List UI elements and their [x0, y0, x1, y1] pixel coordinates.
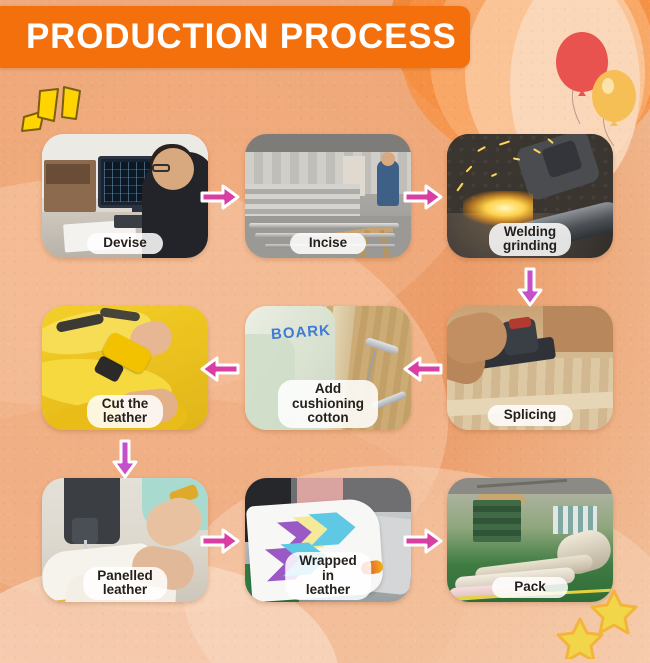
step-label: Incise — [290, 233, 366, 254]
step-label: Devise — [87, 233, 163, 254]
flow-arrow-right-icon — [199, 182, 241, 212]
process-step-card[interactable]: Incise — [245, 134, 411, 258]
page-title: PRODUCTION PROCESS — [26, 17, 457, 57]
process-step-card[interactable]: BOARK Add cushioning cotton — [245, 306, 411, 430]
process-step-card[interactable]: Splicing — [447, 306, 613, 430]
star-icon — [592, 591, 636, 633]
balloons-decoration — [540, 28, 650, 158]
flow-arrow-right-icon — [402, 182, 444, 212]
stars-decoration — [554, 579, 646, 659]
speed-lines-burst-icon — [14, 83, 90, 135]
flow-arrow-right-icon — [199, 526, 241, 556]
production-process-poster: PRODUCTION PROCESS Devis — [0, 0, 650, 663]
flow-arrow-left-icon — [199, 354, 241, 384]
process-step-card[interactable]: Panelled leather — [42, 478, 208, 602]
flow-arrow-right-icon — [402, 526, 444, 556]
flow-arrow-down-icon — [515, 266, 545, 308]
flow-arrow-down-icon — [110, 438, 140, 480]
step-label: Panelled leather — [83, 567, 167, 600]
process-step-card[interactable]: Wrapped in leather — [245, 478, 411, 602]
title-banner: PRODUCTION PROCESS — [0, 6, 470, 68]
step-label: Splicing — [488, 405, 573, 426]
step-label: Cut the leather — [87, 395, 163, 428]
star-icon — [558, 619, 602, 659]
step-label: Add cushioning cotton — [278, 380, 378, 428]
balloon-yellow-icon — [592, 70, 636, 122]
process-step-card[interactable]: Cut the leather — [42, 306, 208, 430]
step-label: Wrapped in leather — [285, 552, 371, 600]
flow-arrow-left-icon — [402, 354, 444, 384]
step-label: Welding grinding — [489, 223, 571, 256]
process-step-card[interactable]: Devise — [42, 134, 208, 258]
